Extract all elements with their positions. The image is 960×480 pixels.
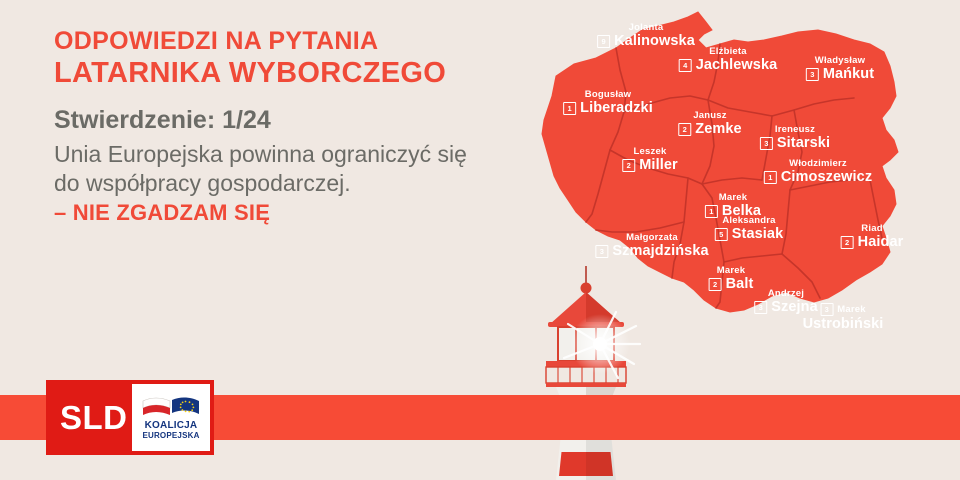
candidate-number-badge: 2 [709, 278, 722, 291]
candidate-first-name: Marek [837, 304, 865, 315]
koalicja-europejska-logo: KOALICJA EUROPEJSKA [132, 384, 210, 451]
map-label: Bogusław 1 Liberadzki [563, 89, 653, 116]
map-label: Małgorzata 3 Szmajdzińska [595, 232, 708, 259]
candidate-last-name: Jachlewska [696, 57, 778, 73]
map-label: Elżbieta 4 Jachlewska [679, 46, 778, 73]
candidate-last-name: Cimoszewicz [781, 169, 872, 185]
candidate-number-badge: 9 [597, 35, 610, 48]
candidate-first-name: Władysław [806, 55, 874, 66]
map-label: Ireneusz 3 Sitarski [760, 124, 830, 151]
candidate-last-name: Balt [726, 276, 754, 292]
candidate-last-name: Szmajdzińska [612, 243, 708, 259]
candidate-last-name: Mańkut [823, 66, 874, 82]
candidate-last-name: Stasiak [732, 226, 784, 242]
candidate-number-badge: 2 [841, 236, 854, 249]
sld-wordmark: SLD [60, 401, 128, 434]
candidate-last-name: Ustrobiński [803, 316, 884, 332]
candidate-first-name: Marek [709, 265, 754, 276]
candidate-first-name: Janusz [678, 110, 741, 121]
sld-logo: SLD [46, 380, 214, 455]
map-label: Marek 2 Balt [709, 265, 754, 292]
candidate-first-name: Ireneusz [760, 124, 830, 135]
map-label: Leszek 2 Miller [622, 146, 677, 173]
title-line-2: LATARNIKA WYBORCZEGO [54, 56, 484, 90]
candidate-first-name: Bogusław [563, 89, 653, 100]
poster-canvas: Jolanta 9 Kalinowska Elżbieta 4 Jachlews… [0, 0, 960, 480]
statement-counter: Stwierdzenie: 1/24 [54, 106, 271, 135]
candidate-first-name: Marek [705, 192, 761, 203]
candidate-number-badge: 3 [760, 137, 773, 150]
candidate-number-badge: 1 [563, 102, 576, 115]
candidate-last-name: Haidar [858, 234, 904, 250]
lighthouse-illustration [520, 262, 652, 480]
candidate-last-name: Liberadzki [580, 100, 653, 116]
candidate-first-name: Jolanta [597, 22, 695, 33]
candidate-number-badge: 3 [806, 68, 819, 81]
statement-answer: – NIE ZGADZAM SIĘ [54, 200, 270, 226]
candidate-first-name: Aleksandra [715, 215, 784, 226]
candidate-first-name: Andrzej [754, 288, 818, 299]
candidate-first-name: Włodzimierz [764, 158, 872, 169]
map-label: Włodzimierz 1 Cimoszewicz [764, 158, 872, 185]
candidate-first-name: Riad [841, 223, 904, 234]
candidate-first-name: Leszek [622, 146, 677, 157]
candidate-number-badge: 3 [754, 301, 767, 314]
map-label: Riad 2 Haidar [841, 223, 904, 250]
title-line-1: ODPOWIEDZI NA PYTANIA [54, 26, 484, 56]
candidate-number-badge: 5 [715, 228, 728, 241]
candidate-last-name: Zemke [695, 121, 741, 137]
map-label: Aleksandra 5 Stasiak [715, 215, 784, 242]
coalition-name-line-1: KOALICJA [145, 420, 198, 431]
map-label: Władysław 3 Mańkut [806, 55, 874, 82]
candidate-number-badge: 1 [764, 171, 777, 184]
candidate-number-badge: 3 [595, 245, 608, 258]
flags-icon [141, 394, 201, 420]
coalition-name-line-2: EUROPEJSKA [142, 431, 199, 441]
candidate-number-badge: 4 [679, 59, 692, 72]
page-title: ODPOWIEDZI NA PYTANIA LATARNIKA WYBORCZE… [54, 26, 484, 90]
map-label: 3 Marek Ustrobiński [803, 303, 884, 332]
map-label: Jolanta 9 Kalinowska [597, 22, 695, 49]
candidate-first-name: Elżbieta [679, 46, 778, 57]
map-label: Janusz 2 Zemke [678, 110, 741, 137]
candidate-number-badge: 2 [622, 159, 635, 172]
statement-text: Unia Europejska powinna ograniczyć się d… [54, 140, 474, 198]
candidate-first-name: Małgorzata [595, 232, 708, 243]
candidate-number-badge: 3 [820, 303, 833, 316]
candidate-last-name: Miller [639, 157, 677, 173]
candidate-number-badge: 2 [678, 123, 691, 136]
candidate-last-name: Sitarski [777, 135, 830, 151]
